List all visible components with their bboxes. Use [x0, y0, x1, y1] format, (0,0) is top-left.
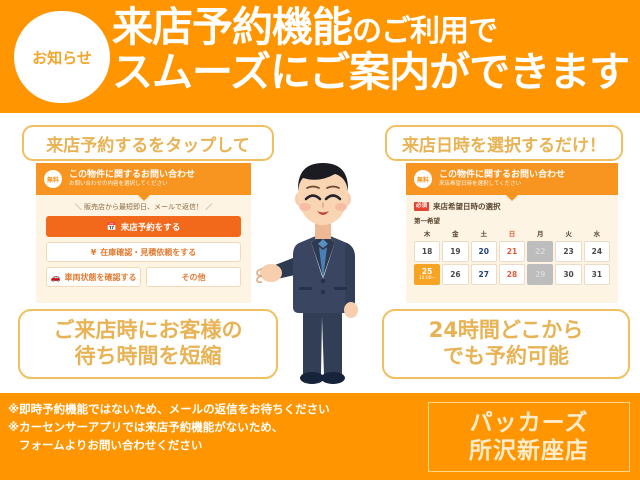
left-step-label: 来店予約するをタップして [22, 125, 274, 161]
mockup-header: 無料 この物件に関するお問い合わせ お問い合わせの内容を選択してください [36, 163, 251, 195]
calendar-date-number: 25 [422, 267, 432, 276]
calendar-day-header: 土 [471, 228, 497, 238]
calendar-date-cell[interactable]: 27 [471, 264, 497, 285]
preference-label: 第一希望 [414, 215, 610, 225]
calendar-section: 必須 来店希望日時の選択 第一希望 木金土日月火水 18192021222324… [406, 195, 618, 285]
calendar-day-header: 金 [442, 228, 468, 238]
stock-quote-label: 在庫確認・見積依頼をする [100, 247, 196, 258]
shop-name-line2: 所沢新座店 [469, 437, 589, 465]
notice-badge-label: お知らせ [32, 47, 92, 68]
header-bar: お知らせ 来店予約機能のご利用で スムーズにご案内ができます [0, 0, 640, 113]
mockup-header-subtitle: お問い合わせの内容を選択してください [69, 181, 195, 188]
calendar-date-number: 23 [563, 247, 573, 256]
calendar-date-number: 24 [592, 247, 602, 256]
calendar-section-title: 来店希望日時の選択 [433, 201, 501, 212]
car-icon: 🚗 [51, 273, 61, 282]
calendar-date-number: 26 [450, 270, 460, 279]
right-benefit-callout: 24時間どこから でも予約可能 [382, 309, 630, 379]
mockup-header-title: この物件に関するお問い合わせ [69, 170, 195, 181]
disclaimer-line-3: フォームよりお問い合わせください [8, 437, 428, 455]
disclaimer-text: ※即時予約機能ではないため、メールの返信をお待ちください ※カーセンサーアプリで… [8, 401, 428, 454]
reserve-visit-label: 来店予約をする [121, 221, 181, 233]
body-section: 来店予約するをタップして 来店日時を選択するだけ！ 無料 この物件に関するお問い… [0, 113, 640, 393]
free-badge: 無料 [414, 170, 432, 188]
calendar-day-headers: 木金土日月火水 [414, 228, 610, 238]
calendar-date-cell[interactable]: 19 [442, 241, 468, 262]
calendar-day-header: 水 [584, 228, 610, 238]
calendar-date-number: 19 [450, 247, 460, 256]
other-label: その他 [182, 272, 206, 283]
calendar-day-header: 月 [527, 228, 553, 238]
headline: 来店予約機能のご利用で スムーズにご案内ができます [112, 6, 637, 95]
stock-quote-button[interactable]: ¥ 在庫確認・見積依頼をする [46, 242, 241, 262]
left-benefit-line2: 待ち時間を短縮 [54, 344, 243, 370]
calendar-date-cell[interactable]: 23 [555, 241, 581, 262]
calendar-date-cell[interactable]: 18 [414, 241, 440, 262]
shop-name-line1: パッカーズ [470, 409, 589, 437]
calendar-date-number: 29 [535, 270, 545, 279]
calendar-date-number: 31 [592, 270, 602, 279]
headline-line1-main: 来店予約機能 [112, 3, 352, 51]
other-button[interactable]: その他 [146, 267, 241, 287]
vehicle-condition-label: 車両状態を確認する [64, 272, 136, 283]
calendar-date-number: 21 [507, 247, 517, 256]
mockup-header-subtitle: 来店希望日時を選択してください [439, 181, 565, 188]
calendar-grid: 181920212223242514:00~262728293031 [414, 241, 610, 285]
disclaimer-line-1: ※即時予約機能ではないため、メールの返信をお待ちください [8, 401, 428, 419]
mockup-header: 無料 この物件に関するお問い合わせ 来店希望日時を選択してください [406, 163, 618, 195]
calendar-day-header: 火 [555, 228, 581, 238]
calendar-day-header: 木 [414, 228, 440, 238]
calendar-date-cell[interactable]: 31 [584, 264, 610, 285]
right-benefit-line2: でも予約可能 [429, 344, 584, 370]
calendar-date-cell[interactable]: 24 [584, 241, 610, 262]
notice-badge: お知らせ [14, 11, 110, 103]
calendar-date-number: 20 [478, 247, 488, 256]
calendar-icon: 📅 [107, 222, 117, 231]
right-step-label: 来店日時を選択するだけ！ [385, 125, 623, 161]
required-badge: 必須 [414, 202, 429, 211]
left-benefit-line1: ご来店時にお客様の [54, 318, 243, 344]
left-benefit-callout: ご来店時にお客様の 待ち時間を短縮 [18, 309, 278, 379]
calendar-date-timeslot: 14:00~ [419, 277, 436, 282]
free-badge: 無料 [44, 170, 62, 188]
calendar-date-number: 28 [507, 270, 517, 279]
calendar-date-cell[interactable]: 30 [555, 264, 581, 285]
headline-line2: スムーズにご案内ができます [112, 51, 637, 94]
calendar-date-cell[interactable]: 21 [499, 241, 525, 262]
left-app-mockup: 無料 この物件に関するお問い合わせ お問い合わせの内容を選択してください ＼ 販… [36, 163, 251, 303]
shop-name-box: パッカーズ 所沢新座店 [428, 402, 630, 472]
right-benefit-line1: 24時間どこから [429, 318, 584, 344]
advertisement-banner: お知らせ 来店予約機能のご利用で スムーズにご案内ができます 来店予約するをタッ… [0, 0, 640, 480]
calendar-date-cell: 29 [527, 264, 553, 285]
calendar-date-cell[interactable]: 20 [471, 241, 497, 262]
calendar-day-header: 日 [499, 228, 525, 238]
calendar-date-cell[interactable]: 26 [442, 264, 468, 285]
footer-bar: ※即時予約機能ではないため、メールの返信をお待ちください ※カーセンサーアプリで… [0, 393, 640, 480]
yen-icon: ¥ [91, 248, 97, 257]
vehicle-condition-button[interactable]: 🚗 車両状態を確認する [46, 267, 141, 287]
calendar-date-cell[interactable]: 28 [499, 264, 525, 285]
calendar-date-number: 22 [535, 247, 545, 256]
disclaimer-line-2: ※カーセンサーアプリでは来店予約機能がないため、 [8, 419, 428, 437]
calendar-date-number: 30 [563, 270, 573, 279]
right-app-mockup: 無料 この物件に関するお問い合わせ 来店希望日時を選択してください 必須 来店希… [406, 163, 618, 303]
calendar-date-number: 18 [422, 247, 432, 256]
headline-line1-tail: のご利用で [352, 14, 497, 49]
calendar-date-number: 27 [478, 270, 488, 279]
calendar-date-cell: 22 [527, 241, 553, 262]
reserve-visit-button[interactable]: 📅 来店予約をする [46, 216, 241, 237]
calendar-date-cell[interactable]: 2514:00~ [414, 264, 440, 285]
mockup-header-title: この物件に関するお問い合わせ [439, 170, 565, 181]
